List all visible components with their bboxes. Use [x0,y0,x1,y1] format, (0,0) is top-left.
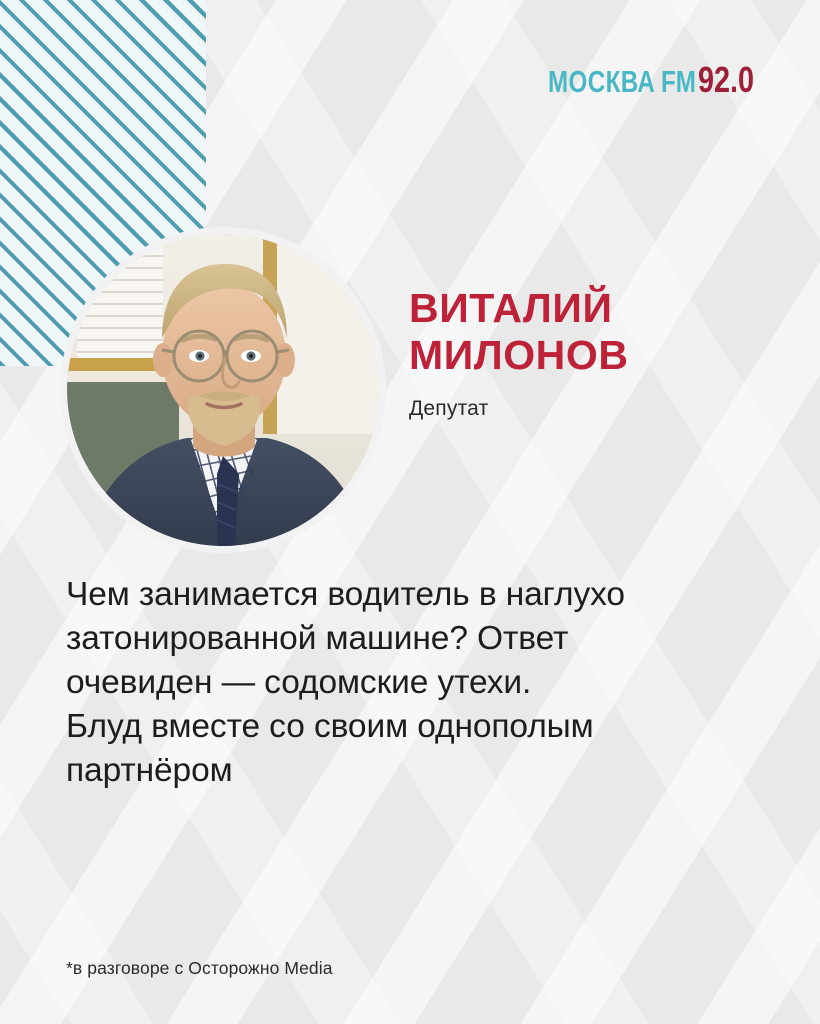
quote-line: затонированной машине? Ответ [66,617,766,661]
quote-text: Чем занимается водитель в наглухо затони… [66,573,766,793]
quote-line: Блуд вместе со своим однополым [66,705,766,749]
moskva-fm-logo: МОСКВА FM 92.0 [548,62,768,98]
portrait-image [67,234,379,546]
source-footnote: *в разговоре с Осторожно Media [66,958,333,979]
quote-line: очевиден — содомские утехи. [66,661,766,705]
quote-line: партнёром [66,749,766,793]
logo-word-fm: FM [661,66,696,97]
vitaly-milonov-portrait [67,234,379,546]
quote-card: МОСКВА FM 92.0 [0,0,820,1024]
quote-line: Чем занимается водитель в наглухо [66,573,766,617]
logo-frequency: 92.0 [698,62,754,98]
speaker-last-name: МИЛОНОВ [409,332,779,379]
speaker-first-name: ВИТАЛИЙ [409,285,779,332]
speaker-role: Депутат [409,397,779,421]
speaker-info: ВИТАЛИЙ МИЛОНОВ Депутат [409,285,779,421]
logo-word-moskva: МОСКВА [548,66,655,97]
